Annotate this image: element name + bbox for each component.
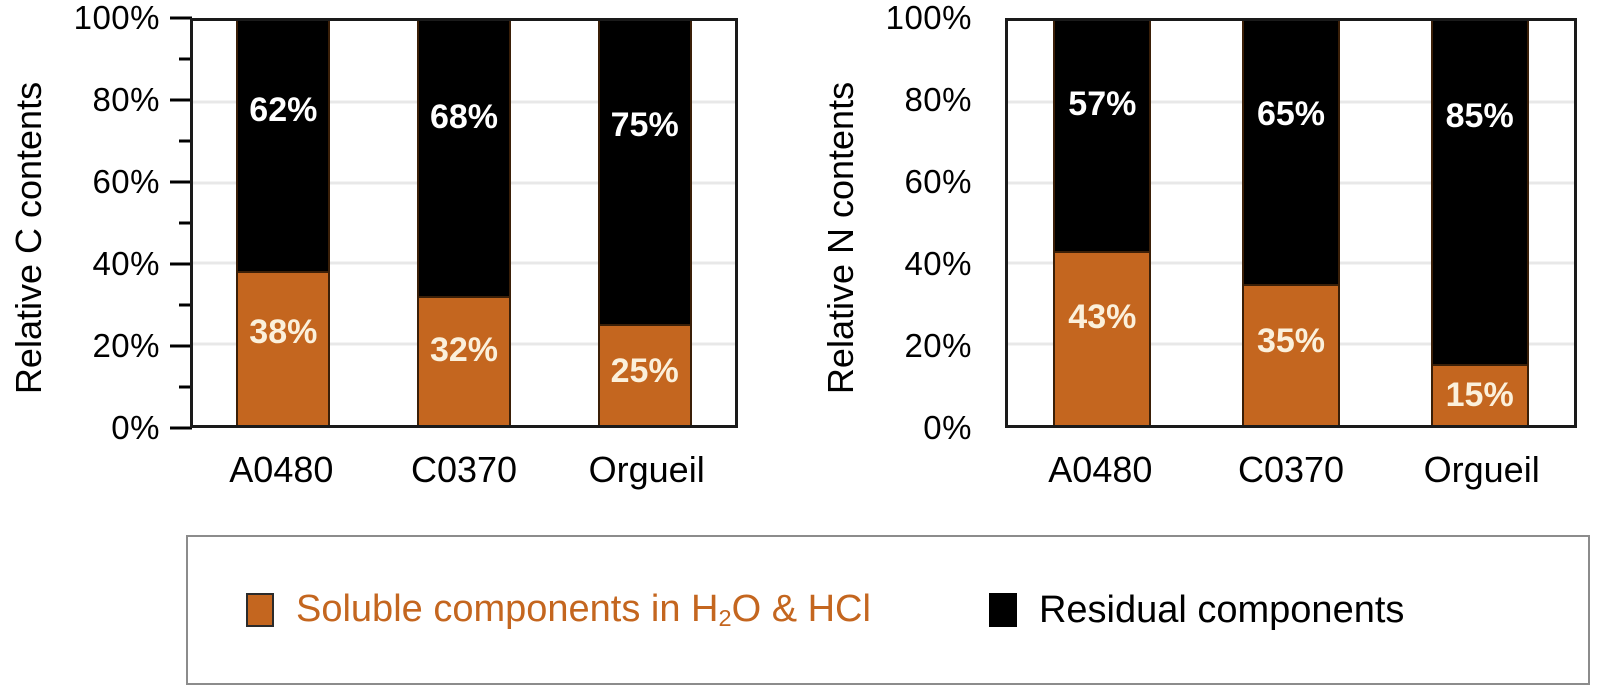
bar-value-label: 15% <box>1433 376 1527 415</box>
stacked-bar-c0370-nitrogen[interactable]: 65% 35% <box>1242 21 1340 425</box>
bar-slot: 62% 38% <box>193 21 374 425</box>
chart-panel-carbon: Relative C contents 100% 80% 60% 40% 20%… <box>0 0 800 510</box>
bar-value-label: 57% <box>1055 85 1149 124</box>
x-tick-label: C0370 <box>373 440 556 500</box>
bar-segment-residual[interactable]: 75% <box>600 21 690 324</box>
legend-label-residual: Residual components <box>1039 589 1404 632</box>
y-tick-label: 40% <box>904 245 972 283</box>
y-tick-label: 80% <box>904 81 972 119</box>
y-tick-label: 60% <box>904 163 972 201</box>
y-tick-label: 60% <box>92 163 160 201</box>
bar-segment-soluble[interactable]: 43% <box>1055 251 1149 425</box>
y-tick-major <box>170 345 192 348</box>
y-tick-major <box>170 427 192 430</box>
legend-label-soluble: Soluble components in H2O & HCl <box>296 588 871 632</box>
bar-slot: 75% 25% <box>554 21 735 425</box>
y-axis-title-carbon: Relative C contents <box>6 18 52 458</box>
bar-slot: 85% 15% <box>1385 21 1574 425</box>
stacked-bar-orgueil-carbon[interactable]: 75% 25% <box>598 21 692 425</box>
bar-value-label: 85% <box>1433 97 1527 136</box>
y-tick-label: 100% <box>886 0 972 37</box>
legend-swatch-orange-icon <box>246 593 274 627</box>
bar-value-label: 32% <box>419 331 509 370</box>
x-axis-labels-carbon: A0480 C0370 Orgueil <box>190 440 738 500</box>
x-axis-labels-nitrogen: A0480 C0370 Orgueil <box>1005 440 1577 500</box>
bar-segment-soluble[interactable]: 15% <box>1433 364 1527 425</box>
stacked-bar-a0480-carbon[interactable]: 62% 38% <box>236 21 330 425</box>
chart-legend: Soluble components in H2O & HCl Residual… <box>186 535 1590 685</box>
bar-value-label: 25% <box>600 352 690 391</box>
y-tick-major <box>170 263 192 266</box>
y-tick-major <box>170 181 192 184</box>
bar-value-label: 68% <box>419 98 509 137</box>
y-axis-tick-labels-carbon: 100% 80% 60% 40% 20% 0% <box>48 18 168 428</box>
bar-value-label: 38% <box>238 313 328 352</box>
chart-panel-nitrogen: Relative N contents 100% 80% 60% 40% 20%… <box>800 0 1604 510</box>
y-axis-title-nitrogen: Relative N contents <box>818 18 864 458</box>
legend-item-residual[interactable]: Residual components <box>989 589 1404 632</box>
stacked-bar-c0370-carbon[interactable]: 68% 32% <box>417 21 511 425</box>
y-tick-major <box>170 99 192 102</box>
bar-group-carbon: 62% 38% 68% 32% <box>193 21 735 425</box>
y-tick-label: 80% <box>92 81 160 119</box>
bar-segment-residual[interactable]: 68% <box>419 21 509 296</box>
bar-slot: 68% 32% <box>374 21 555 425</box>
y-tick-label: 40% <box>92 245 160 283</box>
y-tick-label: 20% <box>92 327 160 365</box>
bar-segment-soluble[interactable]: 25% <box>600 324 690 425</box>
bar-value-label: 43% <box>1055 298 1149 337</box>
y-tick-label: 0% <box>923 409 972 447</box>
bar-segment-soluble[interactable]: 35% <box>1244 284 1338 425</box>
legend-label-soluble-part2: O & HCl <box>732 588 871 630</box>
plot-area-nitrogen: 57% 43% 65% 35% <box>1005 18 1577 428</box>
bar-value-label: 62% <box>238 91 328 130</box>
y-axis-tick-labels-nitrogen: 100% 80% 60% 40% 20% 0% <box>860 18 980 428</box>
x-tick-label: C0370 <box>1196 440 1387 500</box>
y-axis-tick-marks-carbon <box>170 18 192 428</box>
x-tick-label: A0480 <box>190 440 373 500</box>
y-tick-label: 0% <box>111 409 160 447</box>
y-tick-major <box>170 17 192 20</box>
bar-segment-residual[interactable]: 57% <box>1055 21 1149 251</box>
bar-slot: 57% 43% <box>1008 21 1197 425</box>
stacked-bar-orgueil-nitrogen[interactable]: 85% 15% <box>1431 21 1529 425</box>
y-tick-label: 100% <box>74 0 160 37</box>
bar-segment-soluble[interactable]: 32% <box>419 296 509 425</box>
bar-segment-residual[interactable]: 65% <box>1244 21 1338 284</box>
legend-label-soluble-part1: Soluble components in H <box>296 588 718 630</box>
y-tick-label: 20% <box>904 327 972 365</box>
bar-value-label: 65% <box>1244 95 1338 134</box>
x-tick-label: Orgueil <box>555 440 738 500</box>
bar-value-label: 75% <box>600 106 690 145</box>
x-tick-label: Orgueil <box>1386 440 1577 500</box>
bar-value-label: 35% <box>1244 322 1338 361</box>
bar-group-nitrogen: 57% 43% 65% 35% <box>1008 21 1574 425</box>
stacked-bar-figure: Relative C contents 100% 80% 60% 40% 20%… <box>0 0 1604 687</box>
bar-slot: 65% 35% <box>1197 21 1386 425</box>
legend-label-soluble-subscript: 2 <box>718 605 731 631</box>
x-tick-label: A0480 <box>1005 440 1196 500</box>
bar-segment-soluble[interactable]: 38% <box>238 271 328 425</box>
legend-item-soluble[interactable]: Soluble components in H2O & HCl <box>246 588 871 632</box>
stacked-bar-a0480-nitrogen[interactable]: 57% 43% <box>1053 21 1151 425</box>
plot-area-carbon: 62% 38% 68% 32% <box>190 18 738 428</box>
bar-segment-residual[interactable]: 62% <box>238 21 328 271</box>
bar-segment-residual[interactable]: 85% <box>1433 21 1527 364</box>
legend-swatch-black-icon <box>989 593 1017 627</box>
